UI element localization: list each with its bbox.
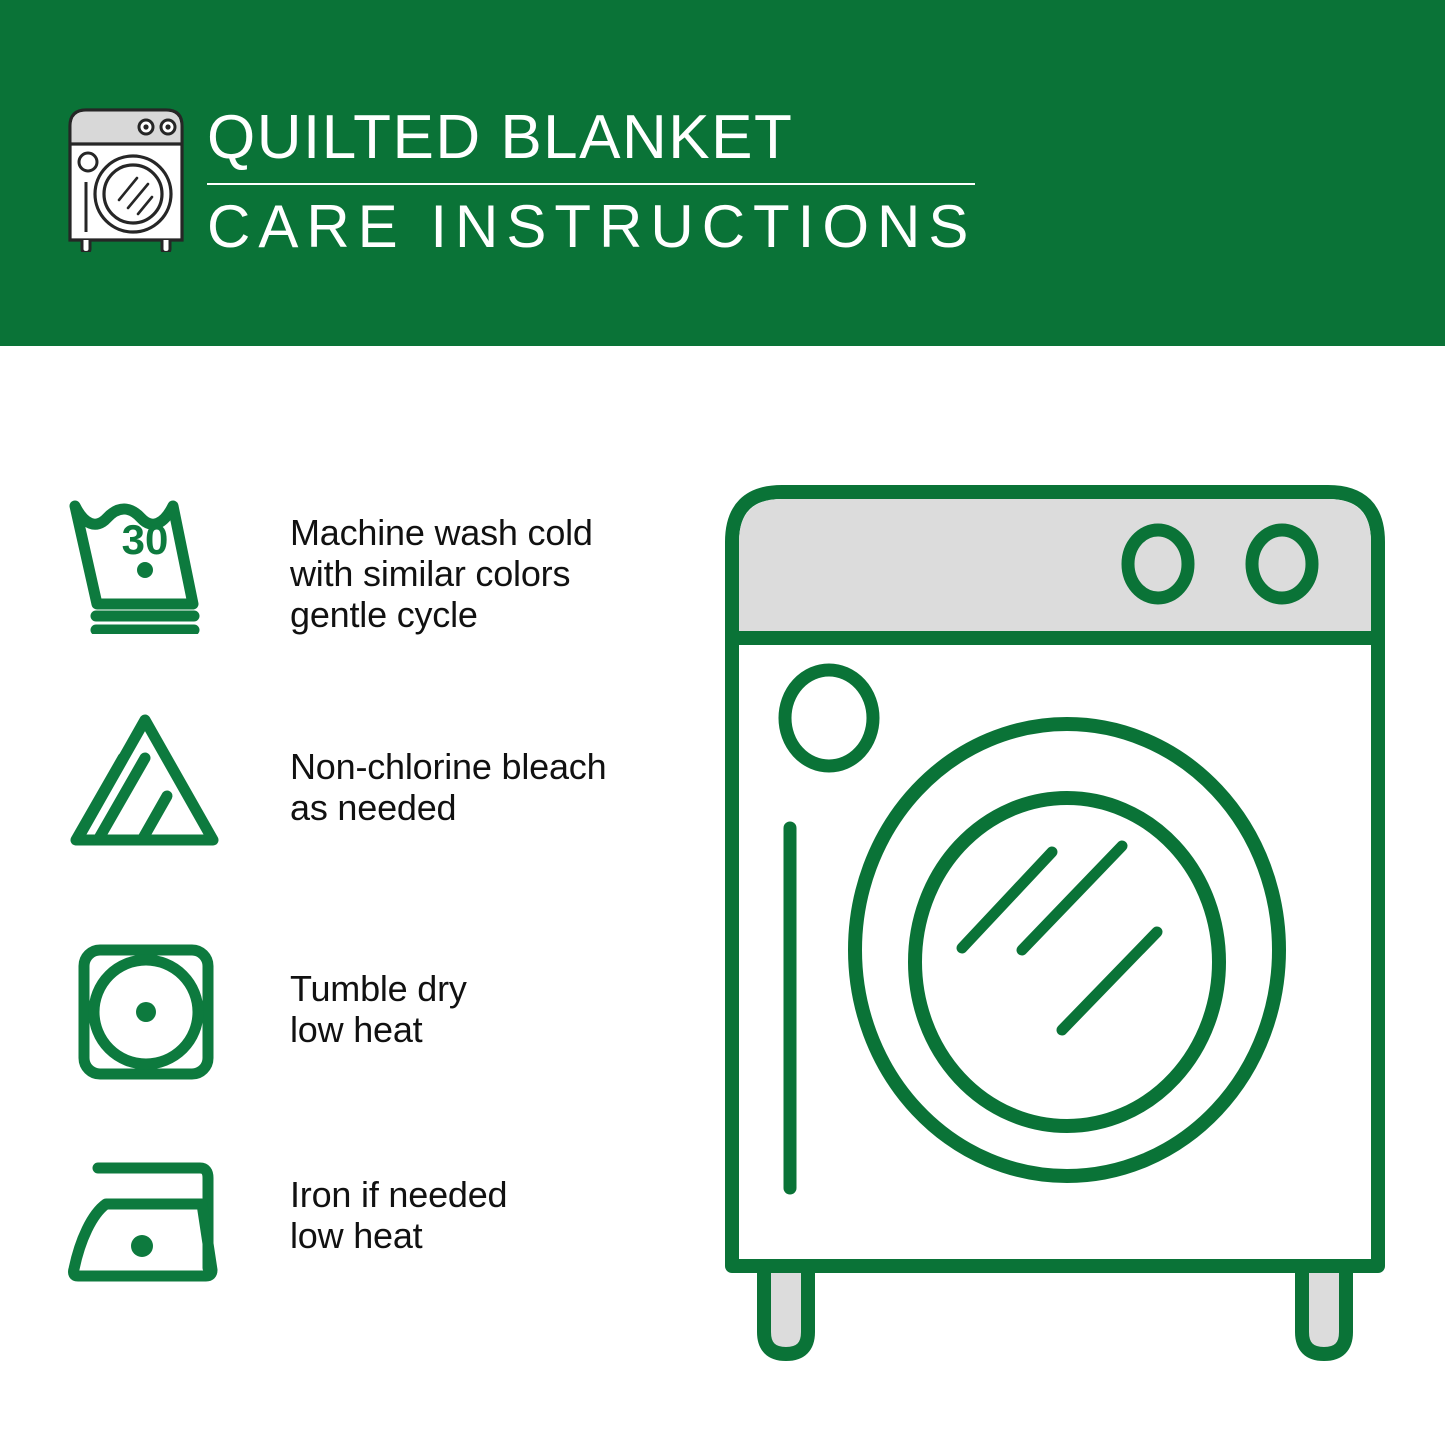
dispenser-button <box>785 670 873 766</box>
care-text-tumble-dry: Tumble dry low heat <box>238 936 700 1050</box>
front-load-washing-machine-illustration <box>712 470 1412 1370</box>
title-care-line: CARE INSTRUCTIONS <box>207 193 997 261</box>
knob-right <box>1252 530 1312 598</box>
care-row-bleach: Non-chlorine bleach as needed <box>60 706 700 856</box>
wash-tub-30-gentle-icon: 30 <box>60 484 238 634</box>
care-row-wash: 30 Machine wash cold with similar colors… <box>60 484 700 635</box>
care-text-wash-line-0: Machine wash cold <box>290 512 700 553</box>
non-chlorine-bleach-triangle-icon <box>60 706 238 856</box>
washing-machine-icon <box>64 104 188 252</box>
care-text-wash-line-1: with similar colors <box>290 553 700 594</box>
care-row-tumble-dry: Tumble dry low heat <box>60 936 700 1086</box>
knob-left <box>1128 530 1188 598</box>
care-instructions-page: QUILTED BLANKET CARE INSTRUCTIONS 30 <box>0 0 1445 1445</box>
iron-low-heat-icon <box>60 1148 238 1298</box>
title-product-line: QUILTED BLANKET <box>207 103 997 173</box>
leg-right <box>1302 1260 1346 1354</box>
title-divider <box>207 183 975 185</box>
header-band: QUILTED BLANKET CARE INSTRUCTIONS <box>0 0 1445 346</box>
leg-left <box>764 1260 808 1354</box>
care-text-wash-line-2: gentle cycle <box>290 594 700 635</box>
tumble-dry-low-icon <box>60 936 238 1086</box>
care-text-bleach-line-1: as needed <box>290 787 700 828</box>
care-text-bleach-line-0: Non-chlorine bleach <box>290 746 700 787</box>
care-row-iron: Iron if needed low heat <box>60 1148 700 1298</box>
care-text-iron: Iron if needed low heat <box>238 1148 700 1256</box>
care-text-tumble-dry-line-1: low heat <box>290 1009 700 1050</box>
page-title: QUILTED BLANKET CARE INSTRUCTIONS <box>207 103 997 261</box>
care-text-bleach: Non-chlorine bleach as needed <box>238 706 700 828</box>
care-text-iron-line-0: Iron if needed <box>290 1174 700 1215</box>
door-inner-ring <box>915 798 1219 1126</box>
wash-temperature-label: 30 <box>122 516 169 563</box>
care-text-tumble-dry-line-0: Tumble dry <box>290 968 700 1009</box>
care-text-wash: Machine wash cold with similar colors ge… <box>238 484 700 635</box>
care-text-iron-line-1: low heat <box>290 1215 700 1256</box>
